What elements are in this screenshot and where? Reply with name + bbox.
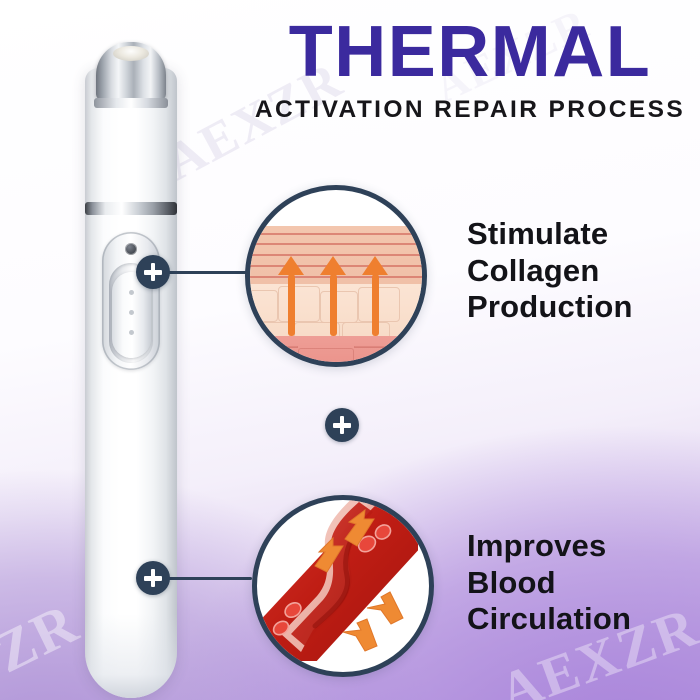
- led-indicator-icon: [125, 243, 137, 255]
- plus-marker-collagen-icon[interactable]: [136, 255, 170, 289]
- feature-label-line: Improves: [467, 528, 692, 565]
- pen-control-panel: [102, 232, 160, 370]
- connector-line-collagen: [168, 271, 248, 274]
- pen-chrome-ring: [85, 202, 177, 215]
- promo-graphic: AEXZR AEXZR ZR AEXZR THERMAL ACTIVATION …: [0, 0, 700, 700]
- feature-label-collagen: Stimulate Collagen Production: [467, 216, 692, 326]
- pen-cap-lens: [113, 46, 149, 61]
- page-subtitle: ACTIVATION REPAIR PROCESS: [247, 96, 693, 124]
- pen-cap-neck: [94, 98, 168, 108]
- feature-label-circulation: Improves Blood Circulation: [467, 528, 692, 638]
- plus-marker-circulation-icon[interactable]: [136, 561, 170, 595]
- feature-label-line: Circulation: [467, 601, 692, 638]
- pen-body: [85, 68, 177, 698]
- title-block: THERMAL ACTIVATION REPAIR PROCESS: [247, 18, 693, 124]
- plus-marker-center-icon[interactable]: [325, 408, 359, 442]
- button-dot-icon: [129, 310, 134, 315]
- connector-line-circulation: [168, 577, 252, 580]
- blood-vessel-svg: [257, 500, 418, 661]
- heat-arrow-icon: [278, 256, 304, 336]
- skin-hypodermis-layer: [245, 336, 427, 367]
- illustration-skin-layers: [245, 185, 427, 367]
- feature-label-line: Blood: [467, 565, 692, 602]
- button-dot-icon: [129, 290, 134, 295]
- page-title: THERMAL: [247, 18, 693, 88]
- skin-diagram: [250, 190, 422, 362]
- illustration-blood-vessel: [252, 495, 434, 677]
- feature-label-line: Production: [467, 289, 692, 326]
- pen-chrome-cap: [96, 42, 166, 100]
- feature-label-line: Collagen: [467, 253, 692, 290]
- heat-arrow-icon: [362, 256, 388, 336]
- button-dot-icon: [129, 330, 134, 335]
- vessel-diagram: [257, 500, 429, 672]
- feature-label-line: Stimulate: [467, 216, 692, 253]
- heat-arrow-icon: [320, 256, 346, 336]
- device-laser-pen: [72, 24, 190, 684]
